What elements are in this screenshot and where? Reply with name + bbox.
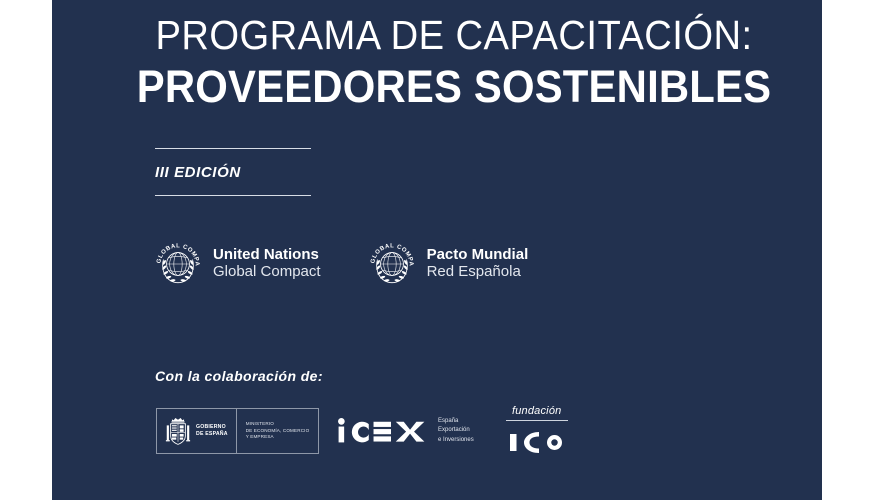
fundacion-rule bbox=[506, 420, 568, 421]
organizer-logos: UN GLOBAL COMPACT United Nations Global … bbox=[152, 238, 528, 290]
gobierno-lockup: GOBIERNO DE ESPAÑA bbox=[157, 409, 237, 453]
logo-text-united-nations: United Nations Global Compact bbox=[213, 247, 321, 281]
icex-tagline-line-1: España bbox=[438, 417, 474, 426]
partner-logos: GOBIERNO DE ESPAÑA MINISTERIO DE ECONOMÍ… bbox=[156, 405, 568, 457]
gobierno-name-line-1: GOBIERNO bbox=[196, 424, 228, 431]
gobierno-name-line-2: DE ESPAÑA bbox=[196, 431, 228, 438]
icex-wordmark-icon bbox=[337, 417, 431, 444]
gobierno-name: GOBIERNO DE ESPAÑA bbox=[196, 424, 228, 438]
icex-tagline-line-3: e Inversiones bbox=[438, 436, 474, 445]
ministerio-line-1: MINISTERIO bbox=[246, 421, 310, 428]
page-title: PROGRAMA DE CAPACITACIÓN: PROVEEDORES SO… bbox=[104, 10, 804, 114]
un-global-compact-emblem: UN GLOBAL COMPACT bbox=[366, 238, 418, 290]
ministerio-line-2: DE ECONOMÍA, COMERCIO bbox=[246, 428, 310, 435]
icex-tagline: España Exportación e Inversiones bbox=[438, 417, 474, 445]
title-line-1: PROGRAMA DE CAPACITACIÓN: bbox=[129, 10, 780, 60]
organizer-name-line-2: Global Compact bbox=[213, 264, 321, 281]
un-global-compact-emblem: UN GLOBAL COMPACT bbox=[152, 238, 204, 290]
logo-text-pacto-mundial: Pacto Mundial Red Española bbox=[427, 247, 529, 281]
collaboration-label: Con la colaboración de: bbox=[155, 368, 323, 384]
ministerio-line-3: Y EMPRESA bbox=[246, 434, 310, 441]
ico-monogram-icon bbox=[507, 427, 567, 457]
logo-fundacion-ico: fundación bbox=[506, 405, 568, 457]
organizer-name-line-1: United Nations bbox=[213, 247, 321, 264]
logo-icex: España Exportación e Inversiones bbox=[337, 417, 473, 445]
promo-banner: PROGRAMA DE CAPACITACIÓN: PROVEEDORES SO… bbox=[52, 0, 822, 500]
ministerio-name: MINISTERIO DE ECONOMÍA, COMERCIO Y EMPRE… bbox=[246, 421, 310, 442]
title-line-2: PROVEEDORES SOSTENIBLES bbox=[129, 60, 780, 114]
logo-pacto-mundial: UN GLOBAL COMPACT Pacto Mundial Red Espa… bbox=[366, 238, 529, 290]
icex-tagline-line-2: Exportación bbox=[438, 426, 474, 435]
organizer-name-line-1: Pacto Mundial bbox=[427, 247, 529, 264]
ministerio-lockup: MINISTERIO DE ECONOMÍA, COMERCIO Y EMPRE… bbox=[237, 409, 319, 453]
fundacion-word: fundación bbox=[512, 405, 562, 420]
edition-label: III EDICIÓN bbox=[155, 149, 315, 195]
edition-block: III EDICIÓN bbox=[155, 148, 315, 196]
logo-united-nations-global-compact: UN GLOBAL COMPACT United Nations Global … bbox=[152, 238, 321, 290]
edition-rule-bottom bbox=[155, 195, 311, 196]
organizer-name-line-2: Red Española bbox=[427, 264, 529, 281]
spain-coat-of-arms-icon bbox=[165, 415, 191, 447]
logo-gobierno-de-espana: GOBIERNO DE ESPAÑA MINISTERIO DE ECONOMÍ… bbox=[156, 408, 319, 454]
